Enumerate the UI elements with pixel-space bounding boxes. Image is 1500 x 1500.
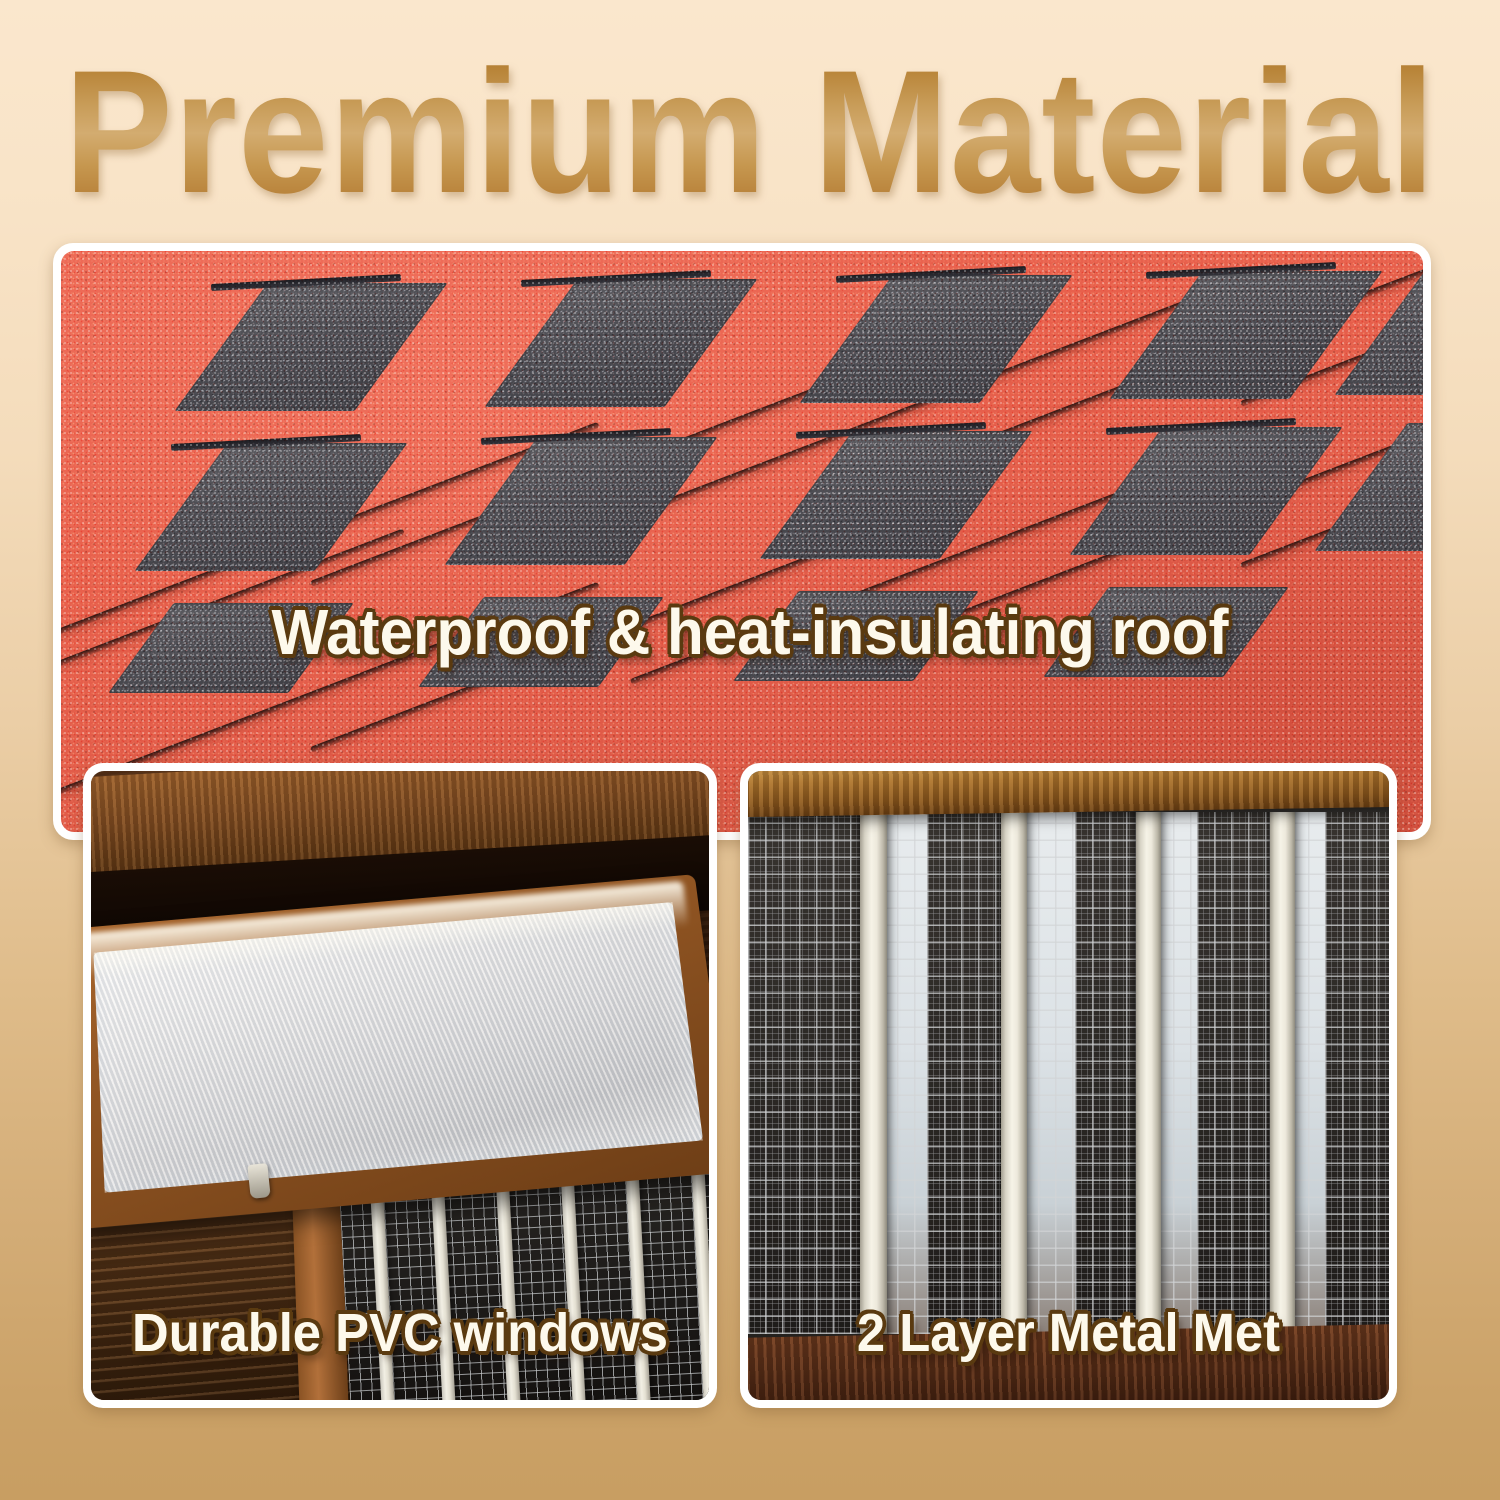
premium-material-infographic: Premium Material	[0, 0, 1500, 1500]
caption-pvc-window: Durable PVC windows	[102, 1303, 698, 1363]
page-title: Premium Material	[53, 44, 1448, 222]
mesh-dark-section	[1325, 812, 1389, 1334]
caption-metal-mesh: 2 Layer Metal Met	[760, 1303, 1378, 1363]
mesh-panel	[748, 812, 1389, 1334]
pvc-latch-clip	[247, 1163, 270, 1199]
roof-shingle-photo	[61, 251, 1423, 832]
caption-roof: Waterproof & heat-insulating roof	[45, 597, 1455, 667]
pvc-hinged-panel	[91, 869, 709, 1226]
pvc-panel-wood-frame	[91, 874, 709, 1229]
feature-card-roof	[53, 243, 1431, 840]
mesh-dark-section	[748, 812, 863, 1334]
roof-granule-texture-fine	[61, 251, 1423, 832]
mesh-dark-section	[1075, 812, 1139, 1334]
mesh-vertical-slat	[1270, 812, 1294, 1334]
mesh-vertical-slat	[1136, 812, 1162, 1334]
mesh-dark-section	[927, 812, 1004, 1334]
mesh-dark-section	[1197, 812, 1274, 1334]
mesh-vertical-slat	[1001, 812, 1027, 1334]
mesh-vertical-slat	[860, 812, 887, 1334]
